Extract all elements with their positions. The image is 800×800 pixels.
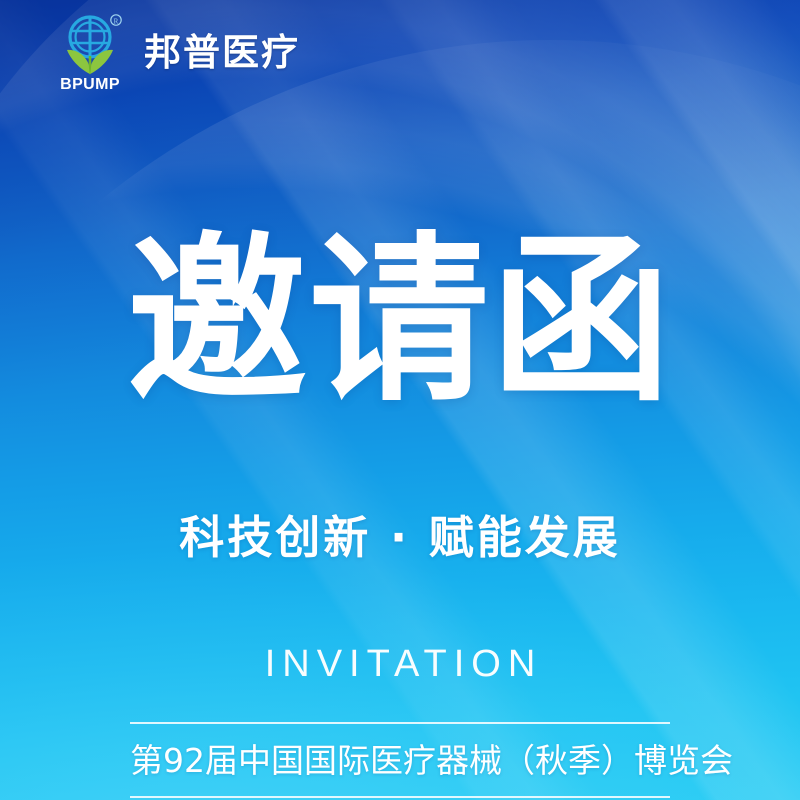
brand-header: R BPUMP 邦普医疗 (52, 12, 300, 92)
brand-name-cn: 邦普医疗 (144, 34, 300, 71)
logo-globe-circle (70, 17, 110, 57)
poster-content: 邀请函 科技创新 · 赋能发展 INVITATION 第92届中国国际医疗器械（… (0, 0, 800, 800)
subtitle-chinese: 科技创新 · 赋能发展 (0, 512, 800, 564)
event-name: 第92届中国国际医疗器械（秋季）博览会 (130, 724, 670, 796)
bpump-logo-icon: R BPUMP (52, 12, 130, 92)
footer-rule-bottom (130, 796, 670, 798)
svg-text:R: R (114, 17, 119, 25)
subtitle-english: INVITATION (0, 645, 800, 683)
page-title: 邀请函 (0, 232, 800, 412)
logo-registered-mark: R (111, 15, 121, 26)
invitation-poster: R BPUMP 邦普医疗 邀请函 科技创新 · 赋能发展 INVITATION … (0, 0, 800, 800)
footer-block: 第92届中国国际医疗器械（秋季）博览会 (130, 722, 670, 798)
logo-wordmark: BPUMP (60, 76, 120, 92)
